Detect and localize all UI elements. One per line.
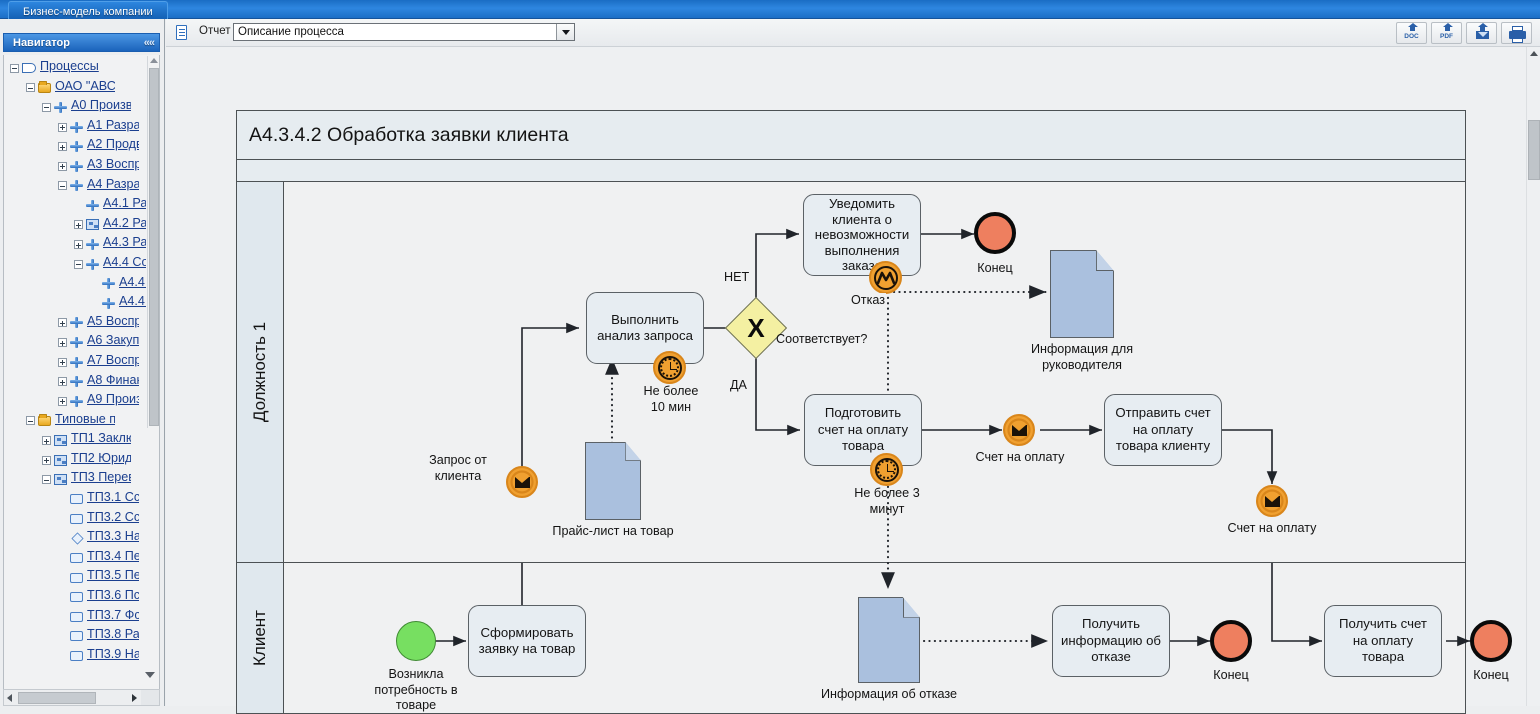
label-pricelist: Прайс-лист на товар bbox=[527, 524, 699, 540]
printer-paper-bottom-icon bbox=[1512, 38, 1523, 43]
task-prepare-invoice[interactable]: Подготовить счет на оплату товара bbox=[804, 394, 922, 466]
tree-item[interactable]: Типовые проце bbox=[4, 412, 146, 432]
scroll-left-arrow-icon[interactable] bbox=[7, 694, 12, 702]
document-manager-info[interactable] bbox=[1050, 250, 1114, 338]
report-type-select[interactable]: Описание процесса bbox=[233, 23, 575, 41]
tree-leaf-spacer bbox=[58, 495, 67, 504]
envelope-icon bbox=[1012, 425, 1027, 436]
tree-item[interactable]: ТП3.8 Ра bbox=[4, 627, 146, 647]
tree-item[interactable]: A7 Воспроиз bbox=[4, 353, 146, 373]
activity-icon bbox=[70, 141, 83, 152]
activity-icon bbox=[70, 376, 83, 387]
window-tab[interactable]: Бизнес-модель компании bbox=[8, 1, 168, 19]
pool-subheader bbox=[237, 160, 1465, 182]
lane-label-position-1: Должность 1 bbox=[237, 182, 284, 562]
lane-1-body: Запрос от клиента Прайс-лист на товар bbox=[284, 182, 1465, 562]
tree-item-label[interactable]: ТП3.5 Пе bbox=[87, 568, 139, 584]
activity-icon bbox=[70, 180, 83, 191]
tree-scroll-down-icon[interactable] bbox=[145, 672, 155, 678]
chevron-down-icon[interactable] bbox=[556, 24, 574, 40]
activity-icon bbox=[70, 317, 83, 328]
process-icon bbox=[22, 63, 36, 73]
message-event-invoice-mid[interactable] bbox=[1003, 414, 1035, 446]
activity-icon bbox=[86, 239, 99, 250]
tree-item[interactable]: A4.1 Разр bbox=[4, 196, 146, 216]
envelope-icon bbox=[515, 477, 530, 488]
end-event-invoice[interactable] bbox=[1470, 620, 1512, 662]
label-branch-yes: ДА bbox=[730, 378, 747, 394]
tree-item-label[interactable]: A8 Финансир bbox=[87, 373, 139, 389]
task-receive-invoice[interactable]: Получить счет на оплату товара bbox=[1324, 605, 1442, 677]
tree-item-label[interactable]: A4.2 Разр bbox=[103, 216, 146, 232]
document-refusal-info[interactable] bbox=[858, 597, 920, 683]
tree-item[interactable]: ТП3.4 Пе bbox=[4, 549, 146, 569]
collapse-icon[interactable] bbox=[74, 260, 83, 269]
tree-item[interactable]: A4.4.1 bbox=[4, 275, 146, 295]
tree-item-label[interactable]: ТП3.2 Сс bbox=[87, 510, 139, 526]
tree-item[interactable]: A8 Финансир bbox=[4, 373, 146, 393]
collapse-icon[interactable] bbox=[42, 475, 51, 484]
tree-item[interactable]: A0 Производс bbox=[4, 98, 146, 118]
document-fold-icon bbox=[625, 442, 641, 461]
collapse-icon[interactable] bbox=[26, 416, 35, 425]
clock-icon bbox=[658, 356, 682, 380]
tree-leaf-spacer bbox=[58, 652, 67, 661]
rect-icon bbox=[70, 612, 83, 622]
tree-item[interactable]: Процессы bbox=[4, 59, 146, 79]
message-event-request[interactable] bbox=[506, 466, 538, 498]
label-manager-info: Информация для руководителя bbox=[1012, 342, 1152, 373]
rect-icon bbox=[70, 494, 83, 504]
document-fold-icon bbox=[1096, 250, 1114, 271]
lane-2-name: Клиент bbox=[250, 610, 270, 666]
tree-leaf-spacer bbox=[74, 201, 83, 210]
tree-item-label[interactable]: A6 Закупки и bbox=[87, 333, 139, 349]
diagram-title: A4.3.4.2 Обработка заявки клиента bbox=[237, 111, 1465, 160]
expand-icon[interactable] bbox=[74, 240, 83, 249]
tree-item[interactable]: ТП3.5 Пе bbox=[4, 568, 146, 588]
diagram-icon bbox=[54, 435, 67, 446]
expand-icon[interactable] bbox=[58, 377, 67, 386]
tree-item-label[interactable]: A4.4.1 bbox=[119, 275, 146, 291]
timer-marker-invoice bbox=[870, 453, 903, 486]
report-type-value: Описание процесса bbox=[238, 26, 344, 38]
tree-item[interactable]: ТП3 Перево bbox=[4, 470, 146, 490]
label-refusal-doc: Информация об отказе bbox=[808, 687, 970, 703]
activity-icon bbox=[102, 298, 115, 309]
activity-icon bbox=[102, 278, 115, 289]
envelope-icon bbox=[1476, 31, 1489, 39]
tree-item[interactable]: ТП1 Заключ bbox=[4, 431, 146, 451]
diagram-icon bbox=[54, 455, 67, 466]
expand-icon[interactable] bbox=[58, 142, 67, 151]
tree-leaf-spacer bbox=[58, 554, 67, 563]
tree-item[interactable]: ТП3.9 На bbox=[4, 647, 146, 667]
activity-icon bbox=[70, 337, 83, 348]
navigator-header: Навигатор «« bbox=[3, 33, 160, 52]
tree-item[interactable]: A9 Производ bbox=[4, 392, 146, 412]
tree-item[interactable]: A4.2 Разр bbox=[4, 216, 146, 236]
tree-item-label[interactable]: ТП3.3 На bbox=[87, 529, 139, 545]
tree-item-label[interactable]: A4.4.2 bbox=[119, 294, 146, 310]
activity-icon bbox=[70, 396, 83, 407]
expand-icon[interactable] bbox=[58, 123, 67, 132]
expand-icon[interactable] bbox=[58, 338, 67, 347]
export-doc-label: DOC bbox=[1397, 33, 1426, 40]
rect-icon bbox=[70, 573, 83, 583]
tree-item[interactable]: ТП3.7 Фс bbox=[4, 608, 146, 628]
gateway-x-icon: X bbox=[735, 307, 777, 349]
clock-icon bbox=[875, 458, 899, 482]
activity-icon bbox=[70, 161, 83, 172]
tree-item[interactable]: A3 Воспроиз bbox=[4, 157, 146, 177]
document-icon bbox=[176, 25, 187, 40]
window-titlebar: Бизнес-модель компании bbox=[0, 0, 1540, 19]
tree-item-label[interactable]: A0 Производс bbox=[71, 98, 131, 114]
tree-leaf-spacer bbox=[58, 593, 67, 602]
label-refusal: Отказ bbox=[850, 293, 886, 309]
folder-icon bbox=[38, 83, 51, 93]
tree-item[interactable]: ОАО "АВС" bbox=[4, 79, 146, 99]
activity-icon bbox=[70, 122, 83, 133]
tree-item[interactable]: ТП3.1 Сс bbox=[4, 490, 146, 510]
download-arrow-icon bbox=[1445, 26, 1450, 31]
signal-glyph-icon bbox=[877, 271, 895, 285]
tree-item-label[interactable]: A3 Воспроиз bbox=[87, 157, 139, 173]
task-create-request[interactable]: Сформировать заявку на товар bbox=[468, 605, 586, 677]
tree-item-label[interactable]: ТП3.1 Сс bbox=[87, 490, 139, 506]
tree-item[interactable]: A2 Продвиж bbox=[4, 137, 146, 157]
expand-icon[interactable] bbox=[58, 397, 67, 406]
diamond-icon bbox=[70, 533, 83, 544]
tree-leaf-spacer bbox=[90, 299, 99, 308]
expand-icon[interactable] bbox=[42, 456, 51, 465]
navigator-vertical-scrollbar[interactable] bbox=[147, 56, 159, 428]
tree-item-label[interactable]: ТП3.4 Пе bbox=[87, 549, 139, 565]
signal-icon bbox=[874, 266, 898, 290]
tree-item[interactable]: A6 Закупки и bbox=[4, 333, 146, 353]
rect-icon bbox=[70, 631, 83, 641]
collapse-icon[interactable] bbox=[42, 103, 51, 112]
label-branch-no: НЕТ bbox=[724, 270, 749, 286]
navigator-hscroll-thumb[interactable] bbox=[18, 692, 96, 704]
rect-icon bbox=[70, 651, 83, 661]
signal-marker-refusal bbox=[869, 261, 902, 294]
report-toolbar: Отчет Описание процесса DOC PDF bbox=[166, 19, 1540, 47]
end-event-refusal[interactable] bbox=[1210, 620, 1252, 662]
tree-item[interactable]: ТП3.2 Сс bbox=[4, 510, 146, 530]
label-end-invoice: Конец bbox=[1451, 668, 1531, 684]
lane-label-client: Клиент bbox=[237, 563, 284, 713]
label-invoice-mid: Счет на оплату bbox=[963, 450, 1077, 466]
rect-icon bbox=[70, 553, 83, 563]
tree-item-label[interactable]: A4.3 Разр bbox=[103, 235, 146, 251]
navigator-body: ПроцессыОАО "АВС"A0 ПроизводсA1 Разработ… bbox=[3, 55, 160, 703]
diagram-icon bbox=[54, 474, 67, 485]
tree-item-label[interactable]: ТП1 Заключ bbox=[71, 431, 131, 447]
lane-1-name: Должность 1 bbox=[250, 322, 270, 422]
message-event-invoice-right[interactable] bbox=[1256, 485, 1288, 517]
diagram-canvas: A4.3.4.2 Обработка заявки клиента Должно… bbox=[166, 47, 1540, 706]
print-button[interactable] bbox=[1501, 22, 1532, 44]
task-notify-client[interactable]: Уведомить клиента о невозможности выполн… bbox=[803, 194, 921, 276]
download-arrow-icon bbox=[1410, 26, 1415, 31]
tree-item-label[interactable]: A7 Воспроиз bbox=[87, 353, 139, 369]
tree-leaf-spacer bbox=[58, 573, 67, 582]
tree-item[interactable]: A5 Воспроиз bbox=[4, 314, 146, 334]
tree-item-label[interactable]: A4.4 Сов bbox=[103, 255, 146, 271]
label-end-top: Конец bbox=[955, 261, 1035, 277]
task-analyze-request[interactable]: Выполнить анализ запроса bbox=[586, 292, 704, 364]
navigator-scroll-thumb[interactable] bbox=[149, 68, 159, 426]
tree-item-label[interactable]: ОАО "АВС" bbox=[55, 79, 115, 95]
tree-item[interactable]: A4 Разработ bbox=[4, 177, 146, 197]
collapse-icon[interactable] bbox=[58, 181, 67, 190]
content-area: Отчет Описание процесса DOC PDF bbox=[166, 19, 1540, 706]
envelope-icon bbox=[1265, 496, 1280, 507]
application-window: Бизнес-модель компании Навигатор «« Проц… bbox=[0, 0, 1540, 706]
lane-position-1: Должность 1 bbox=[237, 182, 1465, 563]
navigator-horizontal-scrollbar[interactable] bbox=[3, 689, 160, 706]
document-pricelist[interactable] bbox=[585, 442, 641, 520]
tree-item-label[interactable]: A4.1 Разр bbox=[103, 196, 146, 212]
timer-marker-analyze bbox=[653, 351, 686, 384]
label-invoice-timer: Не более 3 минут bbox=[829, 486, 945, 517]
tree-item-label[interactable]: A5 Воспроиз bbox=[87, 314, 139, 330]
tree-item[interactable]: ТП2 Юриди bbox=[4, 451, 146, 471]
expand-icon[interactable] bbox=[58, 358, 67, 367]
expand-icon[interactable] bbox=[42, 436, 51, 445]
collapse-icon[interactable] bbox=[10, 64, 19, 73]
export-doc-button[interactable]: DOC bbox=[1396, 22, 1427, 44]
tree-item-label[interactable]: A9 Производ bbox=[87, 392, 139, 408]
tree-item-label[interactable]: ТП3.6 Пс bbox=[87, 588, 139, 604]
diagram-icon bbox=[86, 219, 99, 230]
task-send-invoice[interactable]: Отправить счет на оплату товара клиенту bbox=[1104, 394, 1222, 466]
tree-item-label[interactable]: ТП3.8 Ра bbox=[87, 627, 139, 643]
tree-item[interactable]: ТП3.3 На bbox=[4, 529, 146, 549]
navigator-panel: Навигатор «« ПроцессыОАО "АВС"A0 Произво… bbox=[0, 19, 165, 706]
tree-item-label[interactable]: ТП3.9 На bbox=[87, 647, 139, 663]
content-scroll-thumb[interactable] bbox=[1528, 120, 1540, 180]
content-vertical-scrollbar[interactable] bbox=[1526, 47, 1540, 706]
tree-item-label[interactable]: A1 Разработ bbox=[87, 118, 139, 134]
expand-icon[interactable] bbox=[58, 162, 67, 171]
tree-item[interactable]: A4.4.2 bbox=[4, 294, 146, 314]
export-pdf-label: PDF bbox=[1432, 33, 1461, 40]
lane-client: Клиент bbox=[237, 563, 1465, 713]
tree-leaf-spacer bbox=[58, 632, 67, 641]
tree-item-label[interactable]: ТП3.7 Фс bbox=[87, 608, 139, 624]
document-fold-icon bbox=[903, 597, 920, 618]
rect-icon bbox=[70, 592, 83, 602]
label-start-event: Возникла потребность в товаре bbox=[356, 667, 476, 714]
label-request-event: Запрос от клиента bbox=[416, 453, 500, 484]
tree-item-label[interactable]: A4 Разработ bbox=[87, 177, 139, 193]
scroll-right-arrow-icon[interactable] bbox=[132, 694, 137, 702]
report-label: Отчет bbox=[199, 25, 231, 37]
activity-icon bbox=[86, 200, 99, 211]
tree-item[interactable]: ТП3.6 Пс bbox=[4, 588, 146, 608]
tree-item-label[interactable]: Типовые проце bbox=[55, 412, 115, 428]
navigator-title: Навигатор bbox=[13, 37, 70, 49]
tree-item[interactable]: A1 Разработ bbox=[4, 118, 146, 138]
export-email-button[interactable] bbox=[1466, 22, 1497, 44]
label-analyze-timer: Не более 10 мин bbox=[618, 384, 724, 415]
scroll-up-arrow-icon[interactable] bbox=[150, 58, 158, 63]
folder-icon bbox=[38, 416, 51, 426]
tree-item-label[interactable]: ТП2 Юриди bbox=[71, 451, 131, 467]
tree-leaf-spacer bbox=[58, 612, 67, 621]
tree-leaf-spacer bbox=[90, 279, 99, 288]
export-pdf-button[interactable]: PDF bbox=[1431, 22, 1462, 44]
activity-icon bbox=[86, 259, 99, 270]
label-invoice-right: Счет на оплату bbox=[1215, 521, 1329, 537]
tree-item[interactable]: A4.3 Разр bbox=[4, 235, 146, 255]
tree-item[interactable]: A4.4 Сов bbox=[4, 255, 146, 275]
activity-icon bbox=[70, 357, 83, 368]
activity-icon bbox=[54, 102, 67, 113]
collapse-panel-icon[interactable]: «« bbox=[144, 34, 154, 52]
tree-leaf-spacer bbox=[58, 534, 67, 543]
label-end-refusal: Конец bbox=[1191, 668, 1271, 684]
tree-item-label[interactable]: A2 Продвиж bbox=[87, 137, 139, 153]
label-gateway-question: Соответствует? bbox=[776, 332, 867, 348]
start-event-client[interactable] bbox=[396, 621, 436, 661]
bpmn-pool: A4.3.4.2 Обработка заявки клиента Должно… bbox=[236, 110, 1466, 714]
lane-2-body: Возникла потребность в товаре Сформирова… bbox=[284, 563, 1465, 713]
bpmn-diagram: A4.3.4.2 Обработка заявки клиента Должно… bbox=[236, 110, 1466, 710]
collapse-icon[interactable] bbox=[26, 83, 35, 92]
end-event-top[interactable] bbox=[974, 212, 1016, 254]
rect-icon bbox=[70, 514, 83, 524]
scrollbar-corner bbox=[141, 690, 159, 705]
expand-icon[interactable] bbox=[58, 318, 67, 327]
tree-leaf-spacer bbox=[58, 514, 67, 523]
expand-icon[interactable] bbox=[74, 220, 83, 229]
export-button-group: DOC PDF bbox=[1396, 22, 1532, 44]
tree-item-label[interactable]: ТП3 Перево bbox=[71, 470, 131, 486]
process-tree[interactable]: ПроцессыОАО "АВС"A0 ПроизводсA1 Разработ… bbox=[4, 59, 146, 687]
task-receive-refusal[interactable]: Получить информацию об отказе bbox=[1052, 605, 1170, 677]
tree-item-label[interactable]: Процессы bbox=[40, 59, 99, 75]
scroll-up-arrow-icon[interactable] bbox=[1530, 51, 1538, 56]
